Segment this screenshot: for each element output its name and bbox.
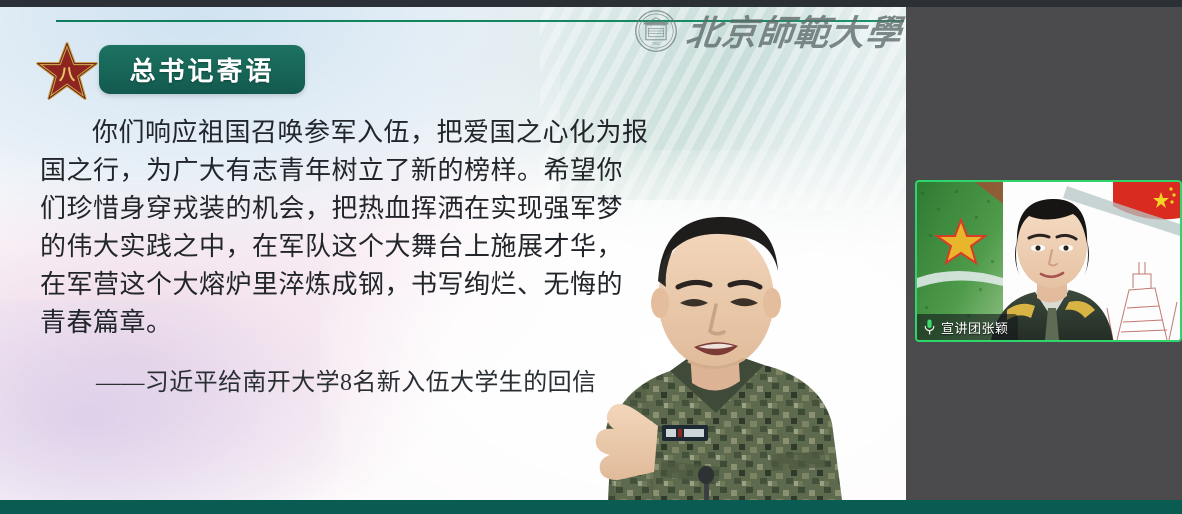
section-title-label: 总书记寄语 bbox=[129, 51, 274, 88]
university-branding: 1902 北京師範大學 bbox=[634, 5, 902, 56]
microphone-icon[interactable] bbox=[923, 319, 936, 336]
shared-slide[interactable]: 1902 北京師範大學 八 总书记寄语 你们响应祖国召唤参军入伍，把爱国之心化为… bbox=[0, 0, 906, 514]
university-wordmark: 北京師範大學 bbox=[683, 5, 904, 56]
body-line: 的伟大实践之中，在军队这个大舞台上施展才华， bbox=[40, 228, 580, 266]
participant-video-tile[interactable]: 宣讲团张颖 bbox=[915, 180, 1182, 342]
university-seal-icon: 1902 bbox=[634, 9, 678, 53]
participant-name-label: 宣讲团张颖 bbox=[941, 318, 1009, 337]
client-top-strip bbox=[0, 0, 1182, 7]
section-title-pill: 总书记寄语 bbox=[99, 45, 305, 94]
body-line: 你们响应祖国召唤参军入伍，把爱国之心化为报 bbox=[40, 114, 580, 152]
body-line: 国之行，为广大有志青年树立了新的榜样。希望你 bbox=[40, 152, 580, 190]
svg-text:1902: 1902 bbox=[652, 41, 660, 46]
body-line: 在军营这个大熔炉里淬炼成钢，书写绚烂、无悔的 bbox=[40, 266, 580, 304]
red-star-eight-one-icon: 八 bbox=[36, 41, 98, 101]
body-line: 们珍惜身穿戎装的机会，把热血挥洒在实现强军梦 bbox=[40, 190, 580, 228]
svg-text:八: 八 bbox=[59, 67, 76, 84]
slide-body-text: 你们响应祖国召唤参军入伍，把爱国之心化为报 国之行，为广大有志青年树立了新的榜样… bbox=[40, 114, 580, 342]
meeting-stage: 1902 北京師範大學 八 总书记寄语 你们响应祖国召唤参军入伍，把爱国之心化为… bbox=[0, 0, 1182, 514]
stage-footer-band bbox=[0, 500, 1182, 514]
body-line: 青春篇章。 bbox=[40, 304, 580, 342]
slide-attribution: ——习近平给南开大学8名新入伍大学生的回信 bbox=[96, 367, 596, 399]
participant-name-bar: 宣讲团张颖 bbox=[917, 314, 1018, 340]
